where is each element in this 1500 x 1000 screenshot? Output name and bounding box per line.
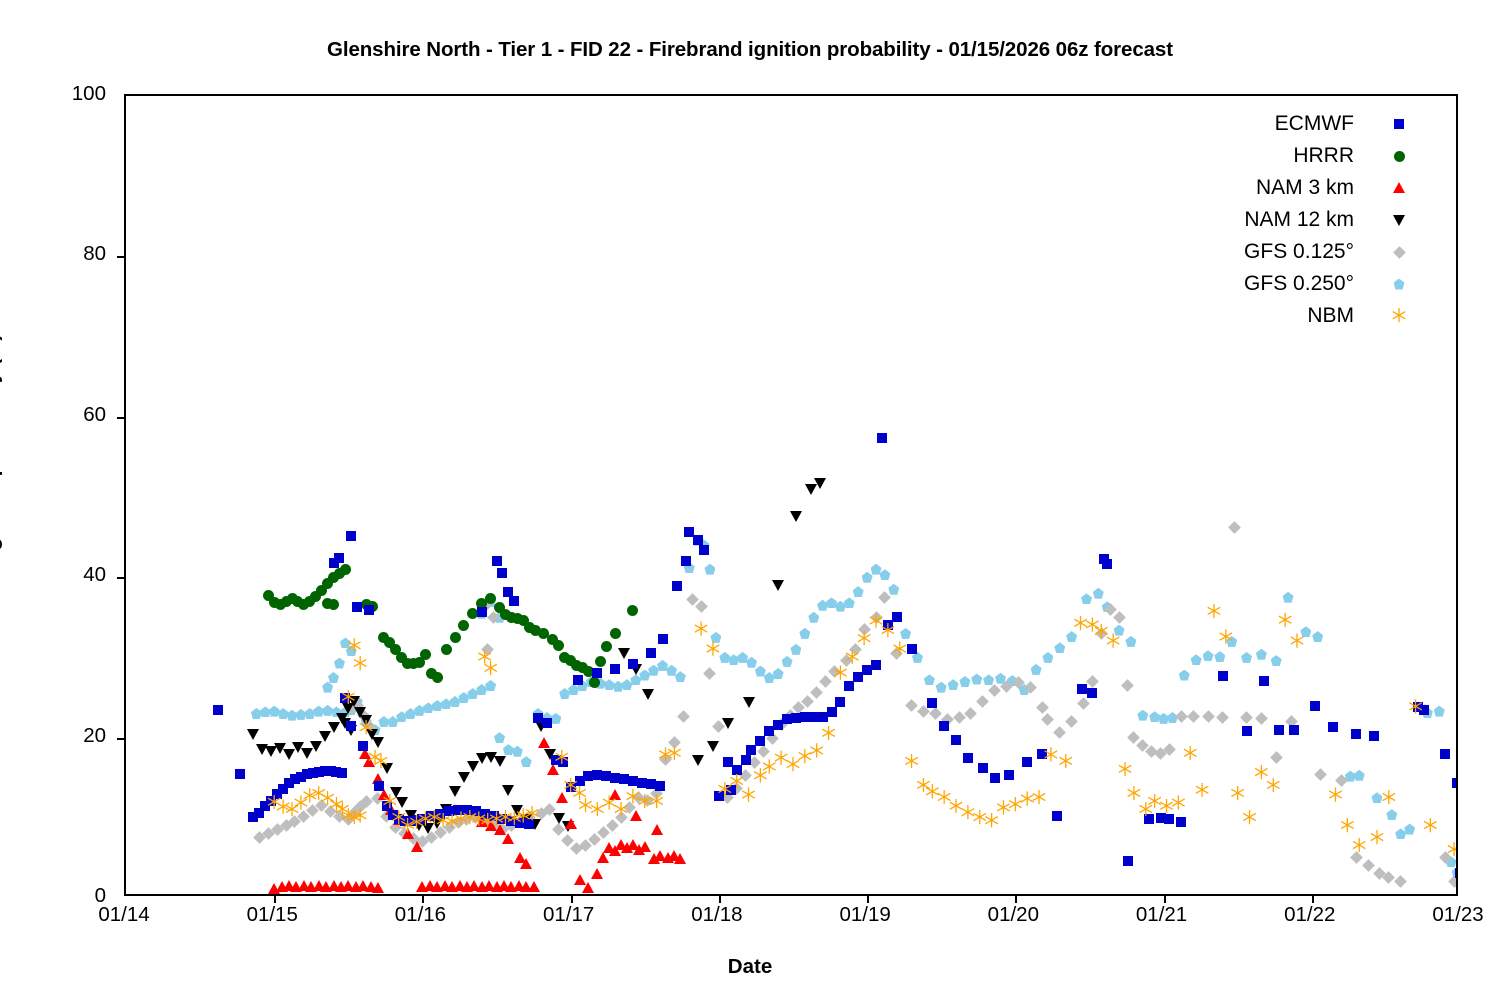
y-tick-label: 20 bbox=[6, 724, 106, 748]
legend-label: GFS 0.125° bbox=[1244, 240, 1388, 264]
legend-marker-pentagon-icon bbox=[1388, 273, 1410, 295]
legend-item-nam-3-km[interactable]: NAM 3 km bbox=[1150, 172, 1410, 204]
x-tick-label: 01/18 bbox=[657, 903, 777, 927]
x-tick-label: 01/20 bbox=[953, 903, 1073, 927]
chart-root: Glenshire North - Tier 1 - FID 22 - Fire… bbox=[0, 0, 1500, 1000]
x-axis-title: Date bbox=[0, 955, 1500, 979]
legend-item-nam-12-km[interactable]: NAM 12 km bbox=[1150, 204, 1410, 236]
legend-label: HRRR bbox=[1293, 144, 1388, 168]
legend-label: NAM 3 km bbox=[1256, 176, 1388, 200]
legend-marker-triangle-up-icon bbox=[1388, 177, 1410, 199]
legend-marker-triangle-down-icon bbox=[1388, 209, 1410, 231]
legend-marker-asterisk-icon bbox=[1388, 305, 1410, 327]
legend-item-ecmwf[interactable]: ECMWF bbox=[1150, 108, 1410, 140]
legend-label: ECMWF bbox=[1275, 112, 1388, 136]
y-tick-label: 80 bbox=[6, 242, 106, 266]
y-tick-label: 60 bbox=[6, 403, 106, 427]
legend-item-gfs-0-250[interactable]: GFS 0.250° bbox=[1150, 268, 1410, 300]
legend: ECMWFHRRRNAM 3 kmNAM 12 kmGFS 0.125°GFS … bbox=[1150, 108, 1410, 332]
x-tick-label: 01/14 bbox=[64, 903, 184, 927]
x-tick-label: 01/22 bbox=[1250, 903, 1370, 927]
y-tick-label: 40 bbox=[6, 563, 106, 587]
y-tick-label: 100 bbox=[6, 82, 106, 106]
x-tick-label: 01/19 bbox=[805, 903, 925, 927]
x-tick-label: 01/17 bbox=[509, 903, 629, 927]
legend-marker-circle-icon bbox=[1388, 145, 1410, 167]
legend-label: NBM bbox=[1307, 304, 1388, 328]
legend-marker-diamond-icon bbox=[1388, 241, 1410, 263]
legend-label: NAM 12 km bbox=[1244, 208, 1388, 232]
x-tick-label: 01/23 bbox=[1398, 903, 1500, 927]
legend-item-hrrr[interactable]: HRRR bbox=[1150, 140, 1410, 172]
x-tick-label: 01/15 bbox=[212, 903, 332, 927]
x-tick-label: 01/16 bbox=[360, 903, 480, 927]
legend-item-gfs-0-125[interactable]: GFS 0.125° bbox=[1150, 236, 1410, 268]
y-axis-title: Firebrand ignition probability (%) bbox=[0, 334, 4, 656]
legend-marker-square-icon bbox=[1388, 113, 1410, 135]
x-tick-label: 01/21 bbox=[1102, 903, 1222, 927]
legend-item-nbm[interactable]: NBM bbox=[1150, 300, 1410, 332]
legend-label: GFS 0.250° bbox=[1244, 272, 1388, 296]
